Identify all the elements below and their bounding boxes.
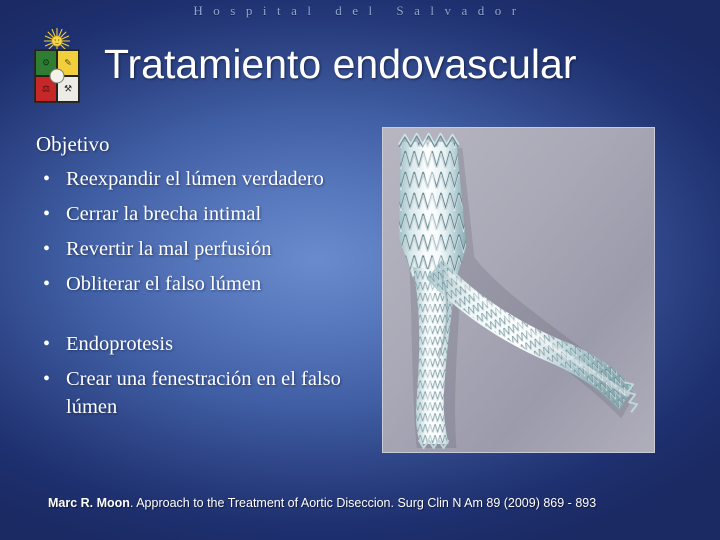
- bullet-point-icon: •: [36, 200, 66, 228]
- list-item-label: Revertir la mal perfusión: [66, 235, 366, 263]
- citation-footer: Marc R. Moon. Approach to the Treatment …: [48, 495, 688, 511]
- bullet-group-two: • Endoprotesis • Crear una fenestración …: [36, 330, 366, 421]
- slide-header-band: Hospital del Salvador: [0, 0, 720, 22]
- citation-author: Marc R. Moon: [48, 496, 130, 510]
- slide-body: Objetivo • Reexpandir el lúmen verdadero…: [36, 131, 366, 421]
- slide-title: Tratamiento endovascular: [104, 40, 664, 88]
- list-item-label: Crear una fenestración en el falso lúmen: [66, 365, 366, 421]
- hospital-name-header: Hospital del Salvador: [193, 3, 526, 19]
- logo-quadrant-white-glyph: ⚒: [64, 85, 72, 94]
- stent-graft-image: [382, 127, 655, 453]
- list-item: • Obliterar el falso lúmen: [36, 270, 366, 298]
- bullet-point-icon: •: [36, 330, 66, 358]
- list-item-label: Cerrar la brecha intimal: [66, 200, 366, 228]
- logo-quadrant-green-glyph: ⚙: [42, 59, 50, 68]
- bullet-group-spacer: [36, 298, 366, 323]
- list-item-label: Obliterar el falso lúmen: [66, 270, 366, 298]
- logo-quadrant-yellow-glyph: ✎: [64, 59, 72, 68]
- universidad-de-chile-logo: ⚙ ✎ ⚖ ⚒: [31, 27, 83, 103]
- list-item: • Cerrar la brecha intimal: [36, 200, 366, 228]
- logo-quadrant-red-glyph: ⚖: [42, 85, 50, 94]
- list-item: • Reexpandir el lúmen verdadero: [36, 165, 366, 193]
- bullet-point-icon: •: [36, 365, 66, 393]
- list-item: • Crear una fenestración en el falso lúm…: [36, 365, 366, 421]
- bullet-point-icon: •: [36, 165, 66, 193]
- objective-label: Objetivo: [36, 131, 366, 158]
- bullet-point-icon: •: [36, 270, 66, 298]
- citation-reference: . Approach to the Treatment of Aortic Di…: [130, 496, 596, 510]
- list-item-label: Endoprotesis: [66, 330, 366, 358]
- presentation-slide: Hospital del Salvador: [0, 0, 720, 540]
- list-item: • Revertir la mal perfusión: [36, 235, 366, 263]
- list-item: • Endoprotesis: [36, 330, 366, 358]
- stent-graft-illustration: [383, 128, 654, 452]
- list-item-label: Reexpandir el lúmen verdadero: [66, 165, 366, 193]
- logo-shield-grid: ⚙ ✎ ⚖ ⚒: [34, 49, 80, 103]
- logo-center-medallion: [50, 69, 65, 84]
- bullet-group-one: • Reexpandir el lúmen verdadero • Cerrar…: [36, 165, 366, 298]
- bullet-point-icon: •: [36, 235, 66, 263]
